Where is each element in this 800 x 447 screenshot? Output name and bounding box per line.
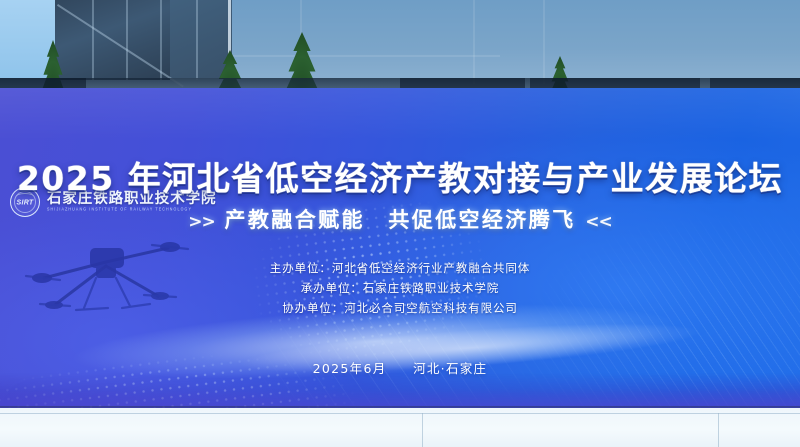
subtitle-right-chevron-icon: << <box>585 212 612 232</box>
subtitle-text: 产教融合赋能 共促低空经济腾飞 <box>225 208 576 232</box>
floor-surface <box>0 408 800 447</box>
window-mullion <box>196 0 198 80</box>
banner-top-sheen <box>0 88 800 140</box>
facade-panel-seam <box>232 55 500 57</box>
facade-panel-seam <box>473 0 475 84</box>
window-mullion <box>92 0 94 80</box>
event-location: 河北·石家庄 <box>413 361 487 376</box>
organizer-row: 主办单位：河北省低空经济行业产教融合共同体 <box>0 258 800 278</box>
organizer-row: 承办单位：石家庄铁路职业技术学院 <box>0 278 800 298</box>
organizer-name: 河北省低空经济行业产教融合共同体 <box>332 261 530 275</box>
photo-background <box>0 0 800 100</box>
facade-panel-seam <box>543 0 545 84</box>
floor-seam <box>718 413 719 447</box>
subtitle-left-chevron-icon: >> <box>188 212 215 232</box>
event-date: 2025年6月 <box>313 361 387 376</box>
event-title: 2025 年河北省低空经济产教对接与产业发展论坛 <box>0 152 800 200</box>
organizer-role: 承办单位： <box>301 281 363 295</box>
window-mullion <box>126 0 128 80</box>
event-subtitle: >> 产教融合赋能 共促低空经济腾飞 << <box>0 204 800 234</box>
window-mullion <box>160 0 162 80</box>
screenshot-stage: SIRT 石家庄铁路职业技术学院 SHIJIAZHUANG INSTITUTE … <box>0 0 800 447</box>
organizer-role: 主办单位： <box>270 261 332 275</box>
event-footer: 2025年6月 河北·石家庄 <box>0 358 800 377</box>
floor-seam <box>0 413 800 414</box>
floor-seam <box>422 413 423 447</box>
organizer-name: 河北必合司空航空科技有限公司 <box>344 301 518 315</box>
building-glass-wall-secondary <box>170 0 232 78</box>
organizer-role: 协办单位： <box>282 301 344 315</box>
organizer-row: 协办单位：河北必合司空航空科技有限公司 <box>0 298 800 318</box>
organizer-name: 石家庄铁路职业技术学院 <box>363 281 499 295</box>
organizer-list: 主办单位：河北省低空经济行业产教融合共同体 承办单位：石家庄铁路职业技术学院 协… <box>0 258 800 318</box>
